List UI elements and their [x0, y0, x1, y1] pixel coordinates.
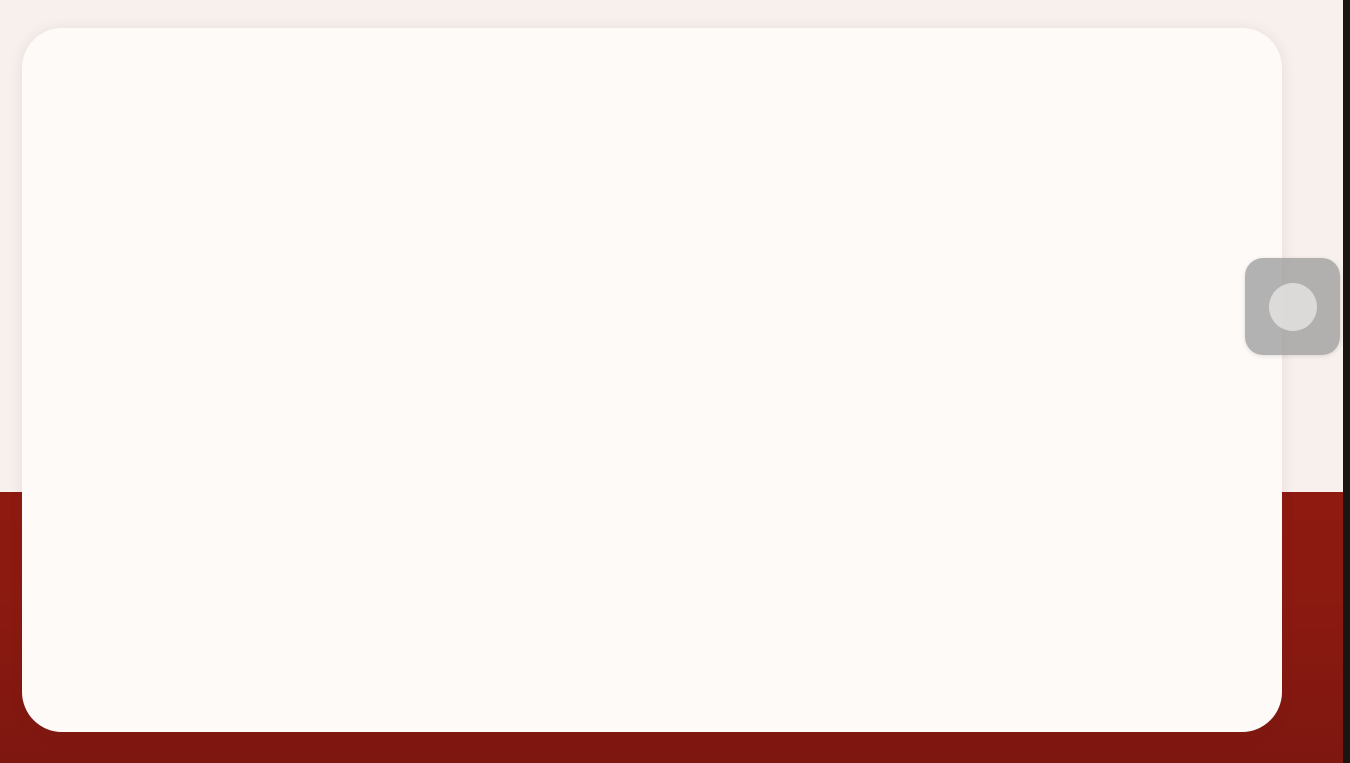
- record-circle-icon: [1269, 283, 1317, 331]
- slide-card: [22, 28, 1282, 732]
- floating-record-button[interactable]: [1245, 258, 1340, 355]
- slide-stage: 党建理论的新突破 中国共产党章程 关于修改党的章程的报告 邓小平 Deng Xi…: [0, 0, 1350, 763]
- screen-right-edge: [1343, 0, 1350, 763]
